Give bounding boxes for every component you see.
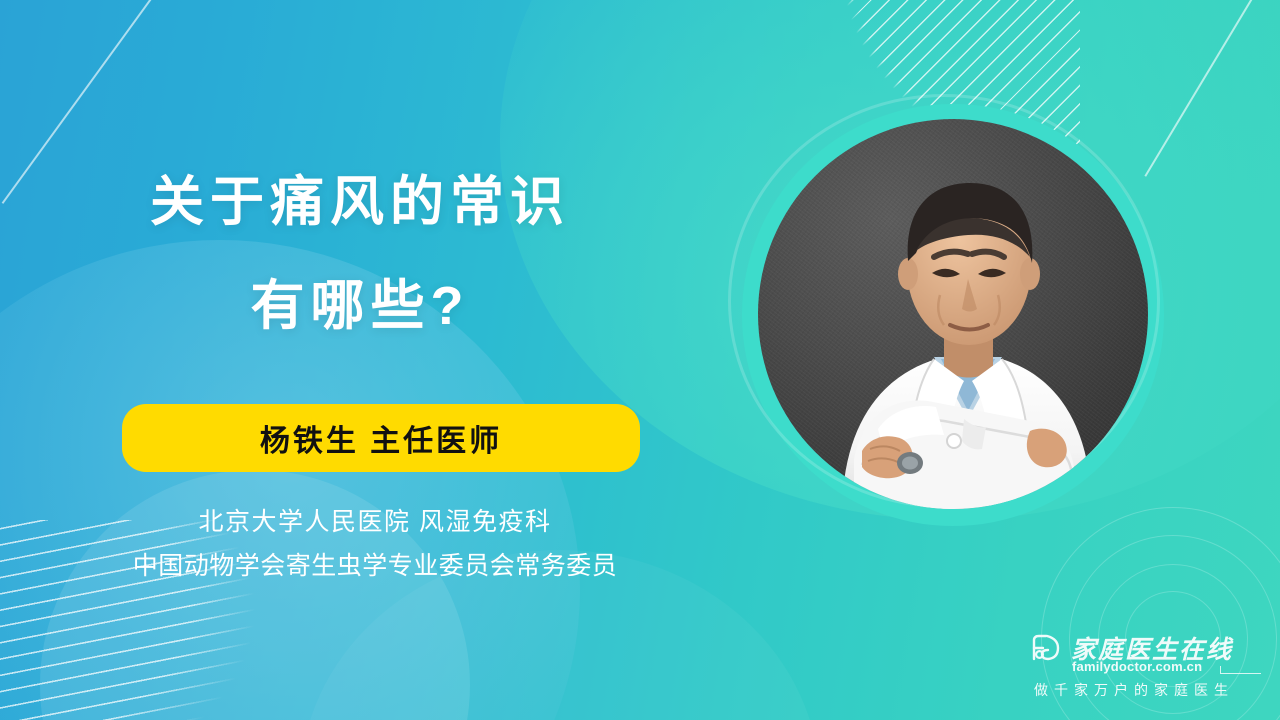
doctor-portrait (742, 104, 1164, 526)
speaker-badge: 杨铁生 主任医师 (122, 404, 640, 472)
speaker-badge-label: 杨铁生 主任医师 (260, 416, 502, 460)
portrait-photo (758, 119, 1148, 509)
title-line-2: 有哪些? (0, 254, 720, 358)
page-title: 关于痛风的常识 有哪些? (0, 150, 720, 358)
doctor-figure-illustration (758, 119, 1148, 509)
title-card: 关于痛风的常识 有哪些? 杨铁生 主任医师 北京大学人民医院 风湿免疫科 中国动… (0, 0, 1280, 720)
affiliation-block: 北京大学人民医院 风湿免疫科 中国动物学会寄生虫学专业委员会常务委员 (0, 500, 750, 588)
affiliation-line-1: 北京大学人民医院 风湿免疫科 (0, 500, 750, 544)
logo-slogan: 做千家万户的家庭医生 (1034, 680, 1234, 700)
logo-url-rule (1220, 666, 1261, 674)
title-line-1: 关于痛风的常识 (0, 150, 720, 254)
brand-logo: 家庭医生在线 familydoctor.com.cn 做千家万户的家庭医生 (1030, 626, 1262, 708)
logo-url: familydoctor.com.cn (1072, 659, 1202, 674)
fd-monogram-icon (1030, 633, 1064, 663)
affiliation-line-2: 中国动物学会寄生虫学专业委员会常务委员 (0, 544, 750, 588)
